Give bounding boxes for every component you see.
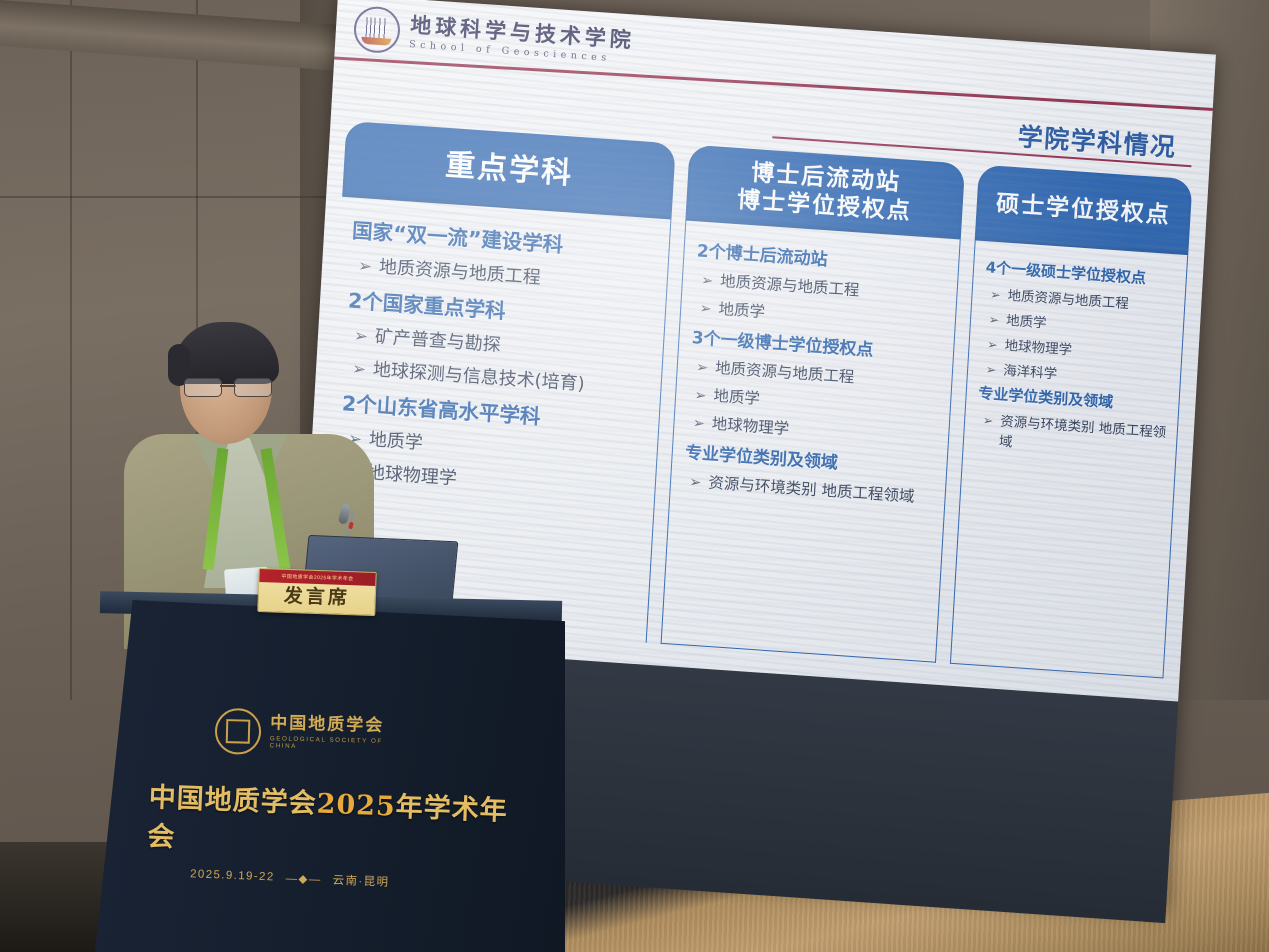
society-logo-text: 中国地质学会 GEOLOGICAL SOCIETY OF CHINA xyxy=(270,715,391,753)
column-postdoc-phd: 博士后流动站 博士学位授权点 2个博士后流动站 ➢ 地质资源与地质工程 xyxy=(661,145,965,663)
event-title-year: 2025 xyxy=(316,789,396,823)
event-date: 2025.9.19-22 xyxy=(190,868,275,883)
event-separator-icon: —◆— xyxy=(285,871,322,886)
list-item-label: 海洋科学 xyxy=(1003,359,1058,383)
list-item-label: 地球物理学 xyxy=(711,412,790,439)
list-item-label: 矿产普查与勘探 xyxy=(374,322,501,357)
list-item-label: 地球物理学 xyxy=(1004,334,1073,359)
arrow-bullet-icon: ➢ xyxy=(990,287,1001,303)
glasses-icon xyxy=(184,378,272,395)
speaker-hair xyxy=(173,322,279,384)
event-location: 云南·昆明 xyxy=(332,872,389,890)
column-2-body: 2个博士后流动站 ➢ 地质资源与地质工程 ➢ 地质学 3个一级博士学位授权点 xyxy=(661,220,960,662)
nameplate-banner: 中国地质学会2025年学术年会 xyxy=(259,569,375,586)
list-item-label: 地质资源与地质工程 xyxy=(378,252,541,289)
seal-arc-icon xyxy=(361,37,391,46)
arrow-bullet-icon: ➢ xyxy=(694,388,707,405)
society-name-en: GEOLOGICAL SOCIETY OF CHINA xyxy=(270,736,390,753)
list-item-label: 地质学 xyxy=(718,297,766,322)
list-item-label: 地质学 xyxy=(713,384,761,409)
arrow-bullet-icon: ➢ xyxy=(696,360,709,377)
wall-seam xyxy=(70,0,72,700)
column-master-degree: 硕士学位授权点 4个一级硕士学位授权点 ➢ 地质资源与地质工程 ➢ 地质学 xyxy=(950,165,1193,679)
society-seal-icon xyxy=(214,708,261,755)
arrow-bullet-icon: ➢ xyxy=(689,474,702,491)
glasses-lens-left xyxy=(184,378,222,397)
society-logo: 中国地质学会 GEOLOGICAL SOCIETY OF CHINA xyxy=(214,706,390,760)
list-item: ➢ 资源与环境类别 地质工程领域 xyxy=(981,408,1167,461)
arrow-bullet-icon: ➢ xyxy=(985,362,996,378)
column-3-body: 4个一级硕士学位授权点 ➢ 地质资源与地质工程 ➢ 地质学 ➢ xyxy=(950,240,1189,678)
list-item-label: 资源与环境类别 地质工程领域 xyxy=(999,410,1168,461)
arrow-bullet-icon: ➢ xyxy=(987,337,998,353)
list-item-label: 地球物理学 xyxy=(366,458,457,490)
arrow-bullet-icon: ➢ xyxy=(982,412,993,428)
arrow-bullet-icon: ➢ xyxy=(701,273,714,290)
event-title-prefix: 中国地质学会 xyxy=(148,782,317,819)
conference-photo-scene: 地球科学与技术学院 School of Geosciences 学院学科情况 重… xyxy=(0,0,1269,952)
list-item-label: 地质学 xyxy=(1006,309,1048,332)
speaker-nameplate: 中国地质学会2025年学术年会 发言席 xyxy=(257,568,376,616)
arrow-bullet-icon: ➢ xyxy=(692,415,705,432)
column-3-header: 硕士学位授权点 xyxy=(974,165,1192,256)
school-logo-text: 地球科学与技术学院 School of Geosciences xyxy=(409,15,636,65)
nameplate-label: 发言席 xyxy=(283,581,350,610)
arrow-bullet-icon: ➢ xyxy=(699,301,712,318)
arrow-bullet-icon: ➢ xyxy=(988,312,999,328)
wall-seam xyxy=(0,196,340,198)
arrow-bullet-icon: ➢ xyxy=(358,256,373,276)
school-seal-icon xyxy=(353,5,402,54)
list-item-label: 地质资源与地质工程 xyxy=(715,356,855,388)
list-item-label: 地质资源与地质工程 xyxy=(720,269,860,301)
event-title: 中国地质学会2025年学术年会 xyxy=(147,775,510,867)
society-name-cn: 中国地质学会 xyxy=(270,715,390,737)
glasses-lens-right xyxy=(234,378,272,397)
list-item-label: 地质资源与地质工程 xyxy=(1007,284,1129,312)
